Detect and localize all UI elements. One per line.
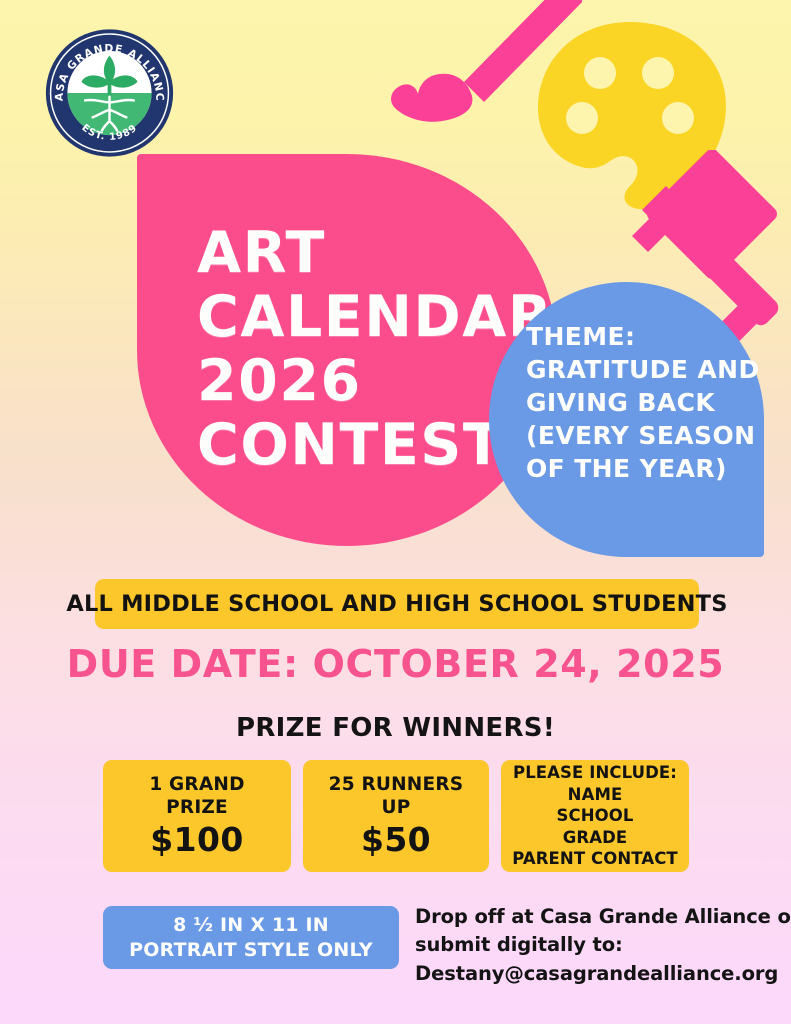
headline-blob: ART CALENDAR 2026 CONTEST <box>137 154 557 546</box>
casa-grande-alliance-logo: CASA GRANDE ALLIANCE EST. 1989 <box>44 26 175 160</box>
size-line-1: 8 ½ IN X 11 IN <box>173 913 329 938</box>
please-include-item-grade: GRADE <box>563 827 628 848</box>
art-calendar-contest-flyer: CASA GRANDE ALLIANCE EST. 1989 <box>0 0 791 1024</box>
runners-up-label-1: 25 RUNNERS <box>329 774 464 797</box>
prize-card-requirements: PLEASE INCLUDE: NAME SCHOOL GRADE PARENT… <box>501 760 689 872</box>
audience-banner: ALL MIDDLE SCHOOL AND HIGH SCHOOL STUDEN… <box>95 579 699 629</box>
please-include-item-parent-contact: PARENT CONTACT <box>512 848 678 869</box>
submission-instructions: Drop off at Casa Grande Alliance or subm… <box>415 903 760 988</box>
theme-blob: THEME: GRATITUDE AND GIVING BACK (EVERY … <box>489 282 764 557</box>
due-date-text: DUE DATE: OCTOBER 24, 2025 <box>0 642 791 686</box>
size-requirement-box: 8 ½ IN X 11 IN PORTRAIT STYLE ONLY <box>103 906 399 969</box>
prize-cards: 1 GRAND PRIZE $100 25 RUNNERS UP $50 PLE… <box>103 760 689 872</box>
grand-prize-label-2: PRIZE <box>166 797 228 820</box>
theme-line-4: (EVERY SEASON <box>526 419 744 452</box>
runners-up-amount: $50 <box>361 823 431 858</box>
grand-prize-amount: $100 <box>150 823 243 858</box>
prize-card-runners-up: 25 RUNNERS UP $50 <box>303 760 489 872</box>
headline-line-2: CALENDAR <box>197 286 557 350</box>
theme-line-3: GIVING BACK <box>526 386 744 419</box>
paint-palette-icon <box>530 18 735 218</box>
submission-email: Destany@casagrandealliance.org <box>415 960 760 988</box>
submission-line-2: submit digitally to: <box>415 931 760 959</box>
size-line-2: PORTRAIT STYLE ONLY <box>129 938 373 963</box>
paintbrush-icon <box>372 0 582 140</box>
theme-line-2: GRATITUDE AND <box>526 353 744 386</box>
please-include-item-school: SCHOOL <box>557 805 634 826</box>
headline-line-1: ART <box>197 222 557 286</box>
submission-line-1: Drop off at Casa Grande Alliance or <box>415 903 760 931</box>
grand-prize-label-1: 1 GRAND <box>149 774 244 797</box>
prize-heading: PRIZE FOR WINNERS! <box>0 713 791 743</box>
please-include-item-name: NAME <box>568 784 623 805</box>
theme-line-1: THEME: <box>526 320 744 353</box>
audience-label: ALL MIDDLE SCHOOL AND HIGH SCHOOL STUDEN… <box>66 591 727 617</box>
please-include-title: PLEASE INCLUDE: <box>513 762 677 783</box>
theme-line-5: OF THE YEAR) <box>526 452 744 485</box>
prize-card-grand: 1 GRAND PRIZE $100 <box>103 760 291 872</box>
runners-up-label-2: UP <box>382 797 411 820</box>
